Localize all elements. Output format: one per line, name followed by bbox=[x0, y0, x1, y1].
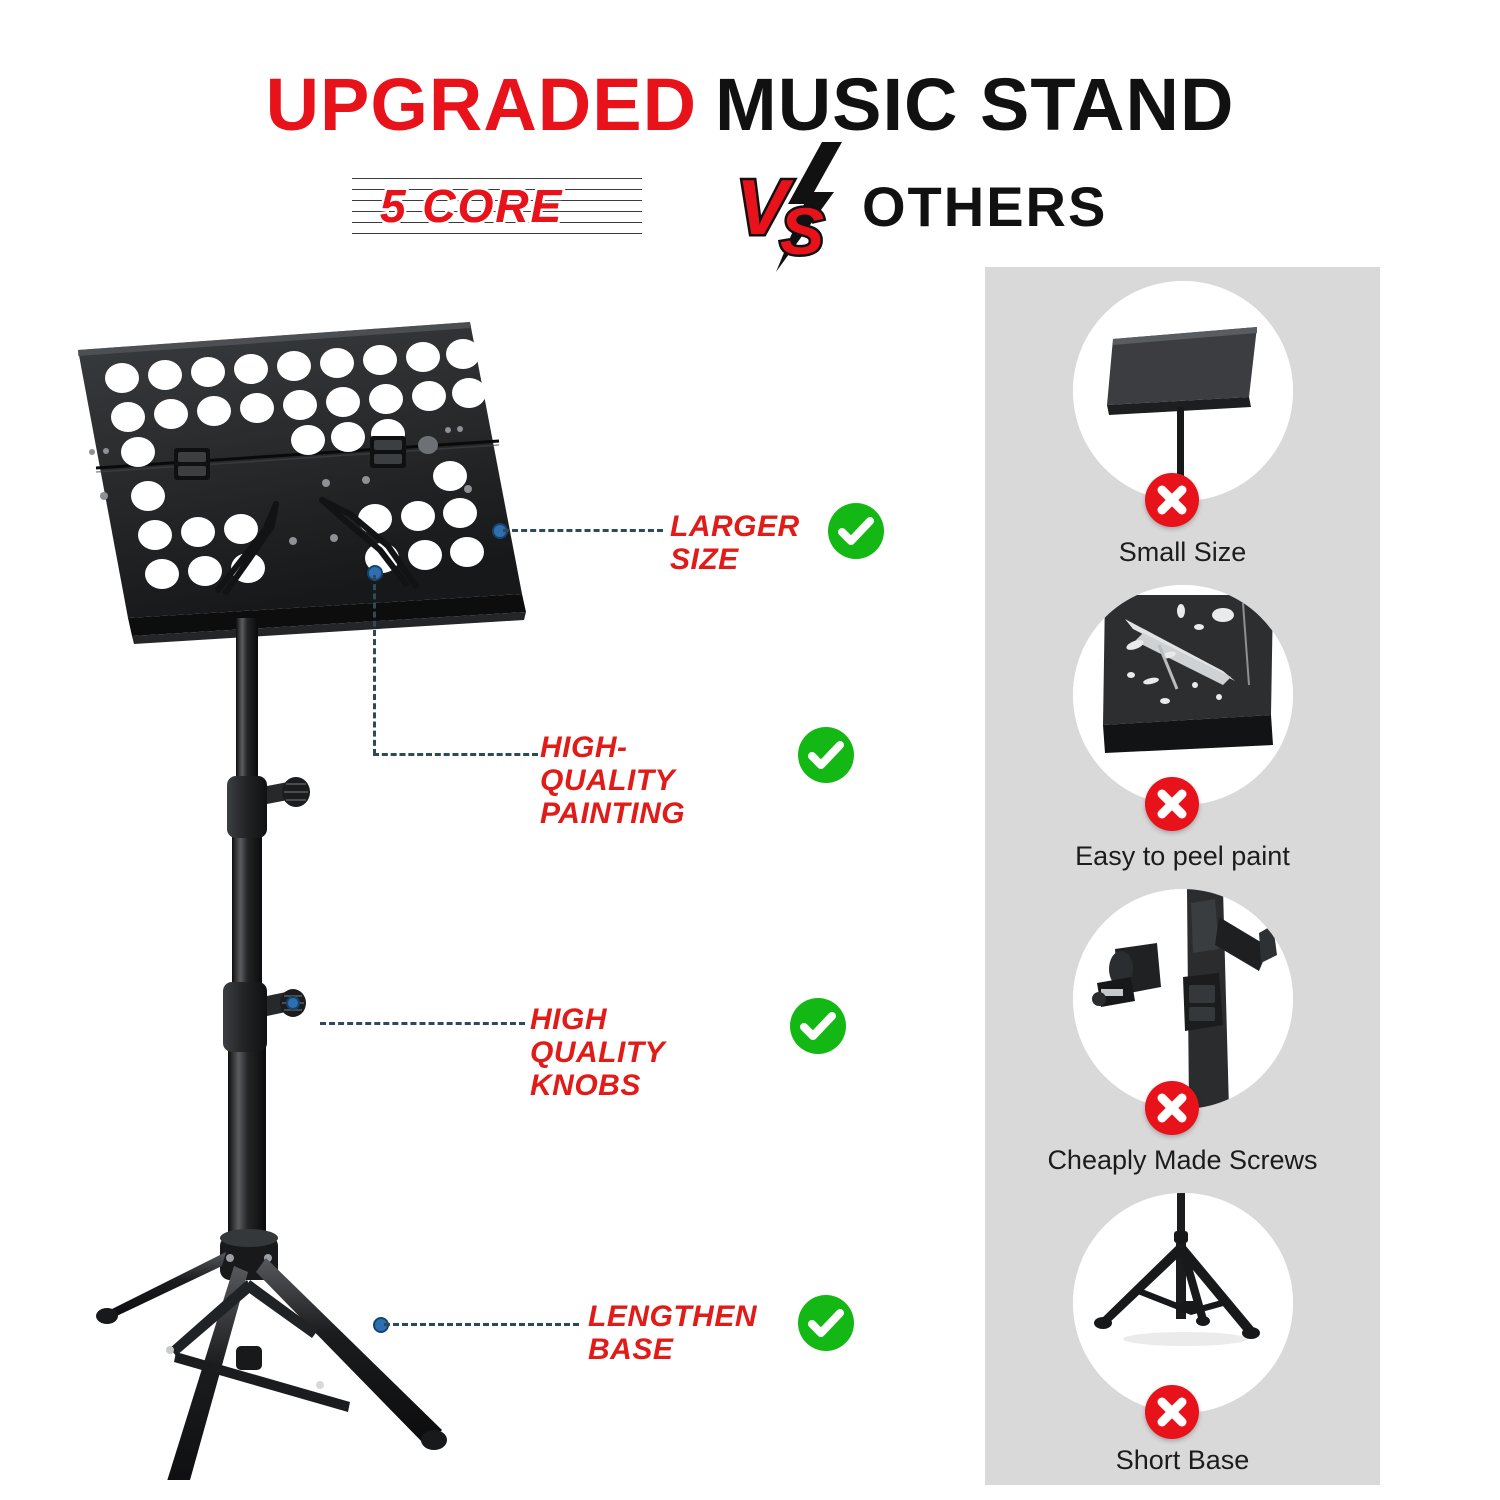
page-clip-left bbox=[174, 448, 210, 480]
cross-icon-small-size bbox=[1145, 473, 1199, 527]
feature-label-lengthen-base: LENGTHEN BASE bbox=[588, 1300, 757, 1366]
check-icon-lengthen-base bbox=[798, 1295, 854, 1351]
lower-knob bbox=[223, 982, 306, 1052]
competitor-caption-short-base: Short Base bbox=[985, 1445, 1380, 1476]
music-stand-product-image bbox=[50, 300, 570, 1480]
competitor-label: OTHERS bbox=[862, 174, 1107, 239]
feature-label-knobs: HIGH QUALITY KNOBS bbox=[530, 1003, 665, 1102]
check-icon-knobs bbox=[790, 998, 846, 1054]
title-rest: MUSIC STAND bbox=[715, 63, 1234, 146]
competitor-item-peel-paint: Easy to peel paint bbox=[985, 585, 1380, 875]
brand-logo-label: 5 CORE bbox=[380, 174, 620, 238]
competitor-item-short-base: Short Base bbox=[985, 1193, 1380, 1483]
tripod-base bbox=[96, 1229, 447, 1480]
title-highlight: UPGRADED bbox=[266, 63, 697, 146]
cross-icon-cheap-screws bbox=[1145, 1081, 1199, 1135]
competitor-caption-small-size: Small Size bbox=[985, 537, 1380, 568]
competitor-caption-peel-paint: Easy to peel paint bbox=[985, 841, 1380, 872]
page-clip-right bbox=[370, 436, 406, 468]
desk-plate bbox=[78, 322, 526, 644]
header: UPGRADEDMUSIC STAND 5 CORE 5 CORE V S OT… bbox=[0, 0, 1500, 270]
competitor-image-short-tripod bbox=[1073, 1193, 1293, 1413]
brand-logo-5core: 5 CORE 5 CORE bbox=[352, 168, 642, 244]
page-title: UPGRADEDMUSIC STAND bbox=[0, 62, 1500, 147]
competitor-image-peeling-paint bbox=[1073, 585, 1293, 805]
check-icon-larger-size bbox=[828, 503, 884, 559]
connector-lengthen-base bbox=[384, 1323, 579, 1326]
upper-knob bbox=[227, 776, 310, 838]
check-icon-painting bbox=[798, 727, 854, 783]
competitor-item-cheap-screws: Cheaply Made Screws bbox=[985, 889, 1380, 1179]
connector-painting-vertical bbox=[373, 575, 376, 755]
competitor-caption-cheap-screws: Cheaply Made Screws bbox=[985, 1145, 1380, 1176]
svg-text:S: S bbox=[780, 194, 824, 268]
competitor-item-small-size: Small Size bbox=[985, 281, 1380, 571]
connector-knobs bbox=[320, 1022, 525, 1025]
stand-stem bbox=[228, 618, 266, 1255]
cross-icon-short-base bbox=[1145, 1385, 1199, 1439]
competitor-image-small-music-stand bbox=[1073, 281, 1293, 501]
connector-painting-horizontal bbox=[373, 753, 538, 756]
vs-icon: V S bbox=[730, 142, 860, 272]
feature-label-larger-size: LARGER SIZE bbox=[670, 510, 800, 576]
connector-larger-size bbox=[503, 529, 663, 532]
feature-label-painting: HIGH-QUALITY PAINTING bbox=[540, 731, 685, 830]
competitor-image-cheap-screws bbox=[1073, 889, 1293, 1109]
comparison-subtitle: 5 CORE 5 CORE V S OTHERS bbox=[0, 160, 1500, 270]
cross-icon-peel-paint bbox=[1145, 777, 1199, 831]
competitor-panel: Small Size bbox=[985, 267, 1380, 1485]
